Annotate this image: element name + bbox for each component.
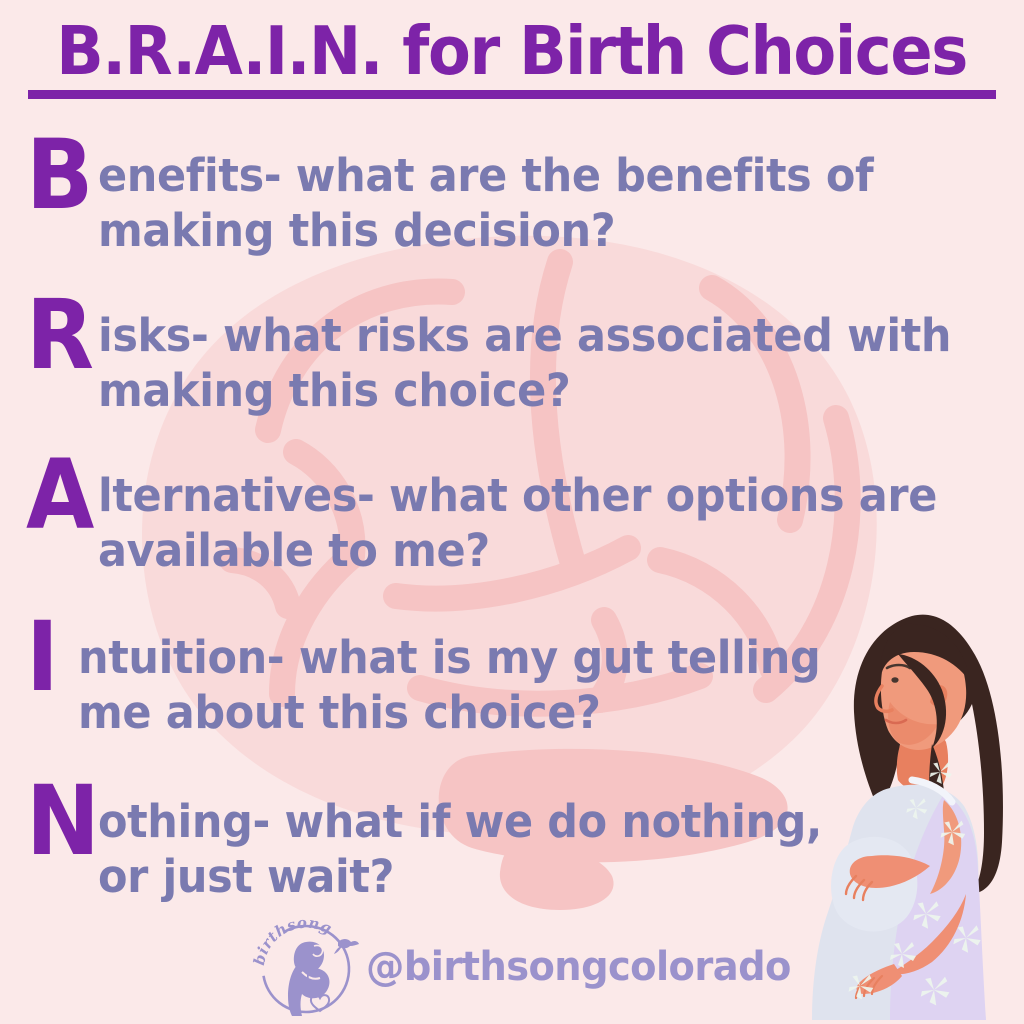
acronym-letter: I <box>26 618 74 697</box>
page-title-text: B.R.A.I.N. for Birth Choices <box>57 18 968 85</box>
entry-line: available to me? <box>98 524 960 579</box>
entry-line: othing- what if we do nothing, <box>98 795 960 850</box>
page-title: B.R.A.I.N. for Birth Choices <box>0 18 1024 85</box>
entry-text: enefits- what are the benefits of making… <box>98 149 960 259</box>
brand-footer: birthsong <box>250 912 808 1022</box>
entry-line: enefits- what are the benefits of <box>98 149 960 204</box>
list-item: B enefits- what are the benefits of maki… <box>26 140 1001 259</box>
entry-text: ntuition- what is my gut telling me abou… <box>78 631 959 741</box>
instagram-handle: @birthsongcolorado <box>366 944 791 990</box>
entry-line: making this choice? <box>98 364 960 419</box>
entry-text: isks- what risks are associated with mak… <box>98 309 960 419</box>
entry-text: othing- what if we do nothing, or just w… <box>98 795 960 905</box>
entry-line: ntuition- what is my gut telling <box>78 631 959 686</box>
list-item: R isks- what risks are associated with m… <box>26 300 1001 419</box>
entry-line: or just wait? <box>98 850 960 905</box>
acronym-letter: N <box>26 782 92 861</box>
acronym-letter: B <box>26 136 92 215</box>
entry-line: making this decision? <box>98 204 960 259</box>
acronym-letter: R <box>26 296 92 375</box>
acronym-letter: A <box>26 456 92 535</box>
list-item: A lternatives- what other options are av… <box>26 460 1001 579</box>
poster-canvas: B.R.A.I.N. for Birth Choices B enefits- … <box>0 0 1024 1024</box>
title-underline <box>28 90 996 99</box>
entry-line: me about this choice? <box>78 686 959 741</box>
list-item: I ntuition- what is my gut telling me ab… <box>26 622 1001 741</box>
entry-line: isks- what risks are associated with <box>98 309 960 364</box>
list-item: N othing- what if we do nothing, or just… <box>26 786 1001 905</box>
birthsong-logo-icon: birthsong <box>250 912 362 1022</box>
entry-line: lternatives- what other options are <box>98 469 960 524</box>
entry-text: lternatives- what other options are avai… <box>98 469 960 579</box>
